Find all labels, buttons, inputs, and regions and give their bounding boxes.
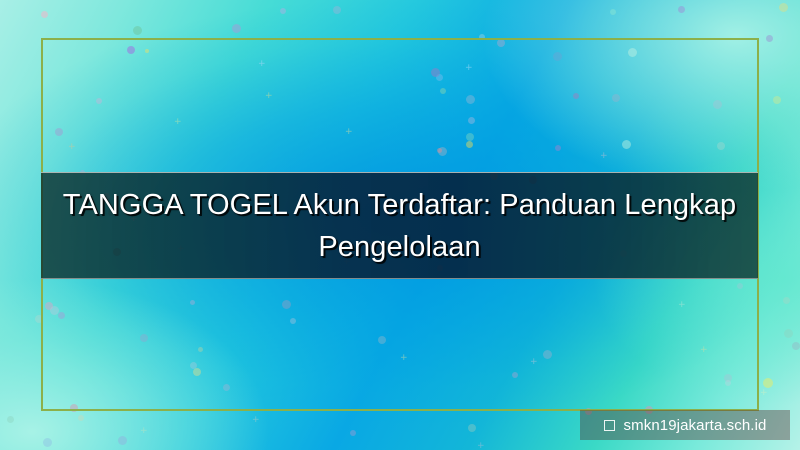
page-title-line-1: TANGGA TOGEL Akun Terdaftar: Panduan Len…	[63, 189, 736, 221]
link-box-icon	[604, 420, 615, 431]
article-banner: ++++++++++++++++++ TANGGA TOGEL Akun Ter…	[0, 0, 800, 450]
page-title-line-2: Pengelolaan	[318, 231, 480, 263]
title-overlay-bar: TANGGA TOGEL Akun Terdaftar: Panduan Len…	[41, 172, 758, 279]
page-title: TANGGA TOGEL Akun Terdaftar: Panduan Len…	[41, 184, 758, 268]
site-badge[interactable]: smkn19jakarta.sch.id	[580, 410, 790, 440]
site-badge-label: smkn19jakarta.sch.id	[624, 418, 767, 433]
